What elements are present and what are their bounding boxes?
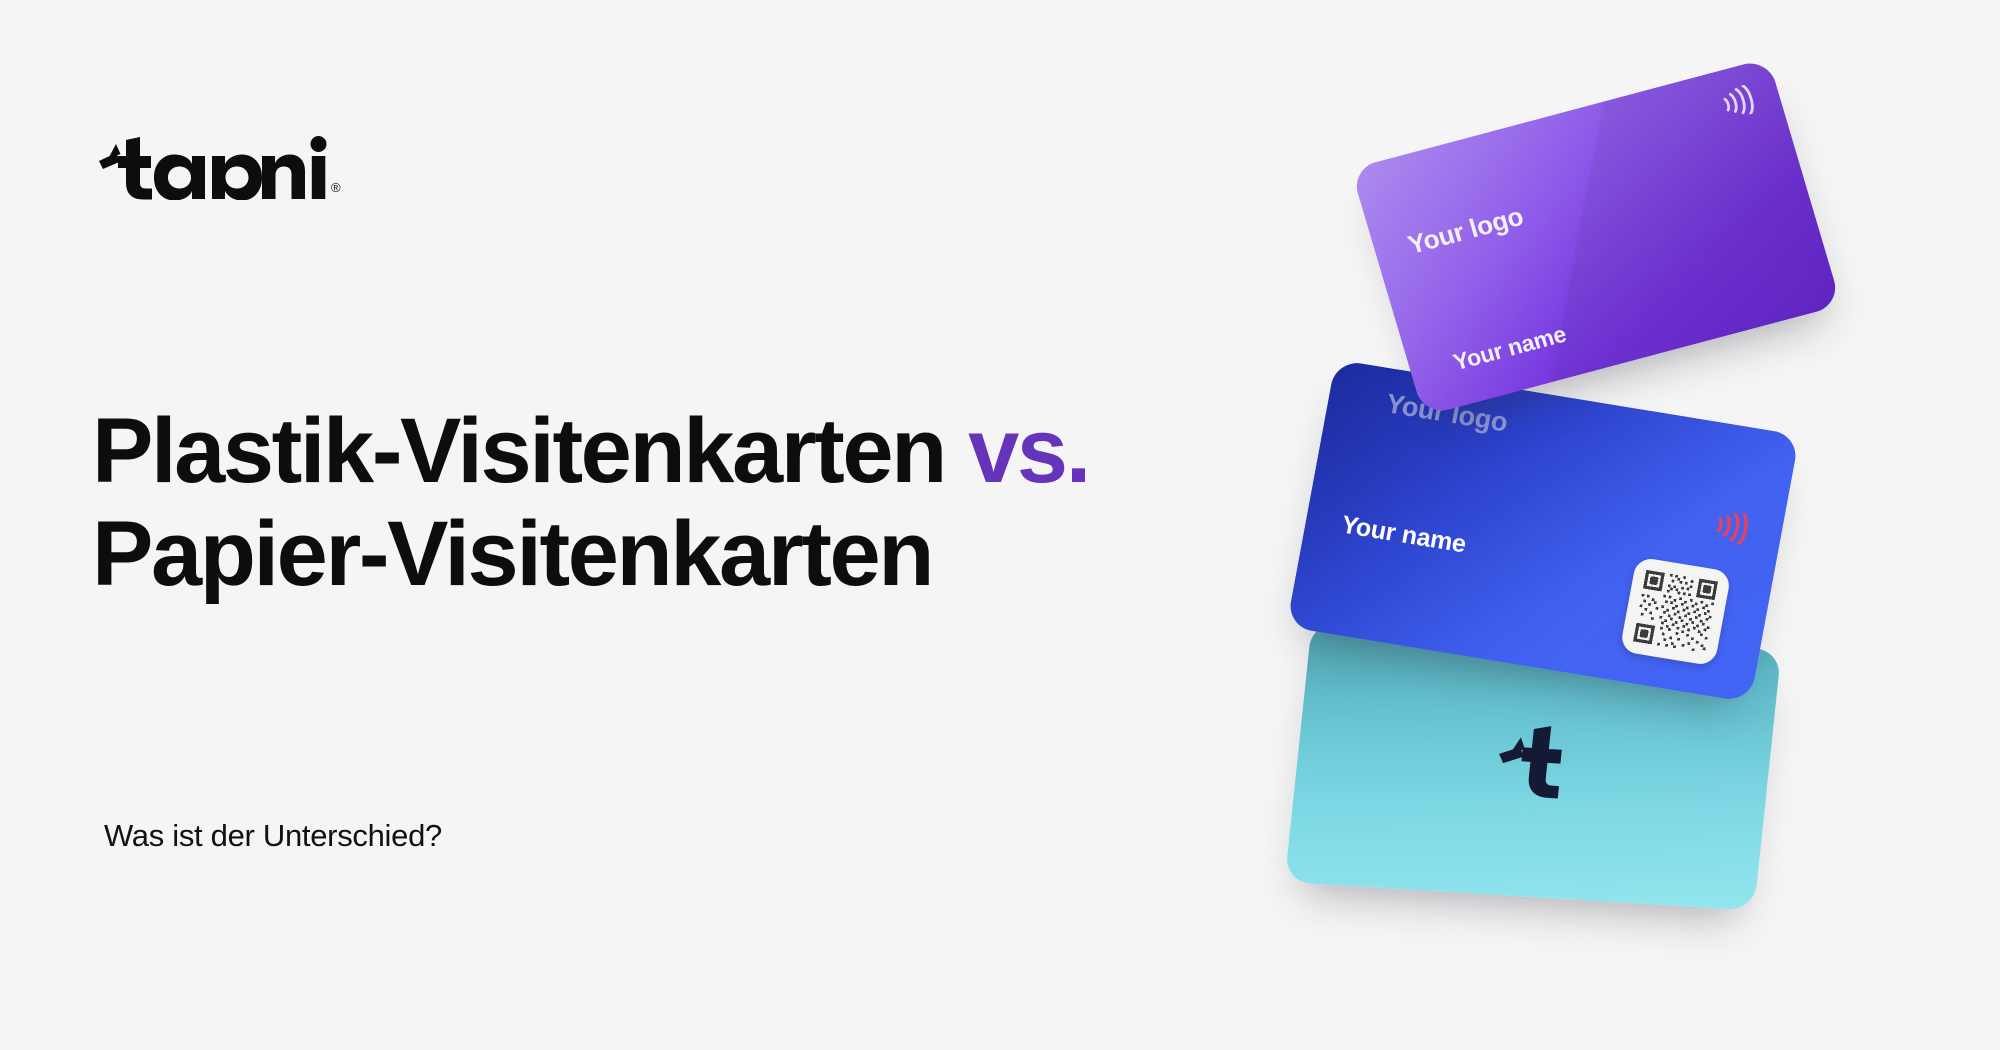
nfc-cards-illustration: Your logo Your name: [1250, 0, 2000, 1050]
hero-subtitle: Was ist der Unterschied?: [104, 818, 442, 854]
tapni-logo[interactable]: ®: [96, 130, 341, 200]
headline-line-2: Papier-Visitenkarten: [92, 503, 932, 605]
page-title: Plastik-Visitenkarten vs. Papier-Visiten…: [92, 400, 1212, 606]
nfc-contactless-icon: [1718, 84, 1757, 121]
hero-banner: ® Plastik-Visitenkarten vs. Papier-Visit…: [0, 0, 2000, 1050]
registered-trademark-symbol: ®: [331, 181, 341, 194]
qr-code-icon: [1630, 567, 1721, 656]
card-purple-logo-label: Your logo: [1404, 201, 1526, 261]
nfc-contactless-icon: [1711, 509, 1750, 546]
tapni-wordmark-icon-part2: [260, 132, 306, 200]
qr-code[interactable]: [1619, 557, 1731, 667]
tapni-t-mark-icon: [1493, 721, 1575, 801]
tapni-wordmark-icon-part3: [310, 132, 328, 200]
tapni-wordmark-icon: [96, 132, 264, 200]
headline-line-1: Plastik-Visitenkarten: [92, 400, 945, 502]
headline-accent-vs: vs.: [968, 400, 1089, 502]
hero-text-column: ® Plastik-Visitenkarten vs. Papier-Visit…: [0, 0, 1250, 1050]
card-blue-name-label: Your name: [1339, 511, 1468, 560]
card-purple: Your logo Your name: [1351, 58, 1842, 417]
card-purple-name-label: Your name: [1450, 321, 1569, 377]
